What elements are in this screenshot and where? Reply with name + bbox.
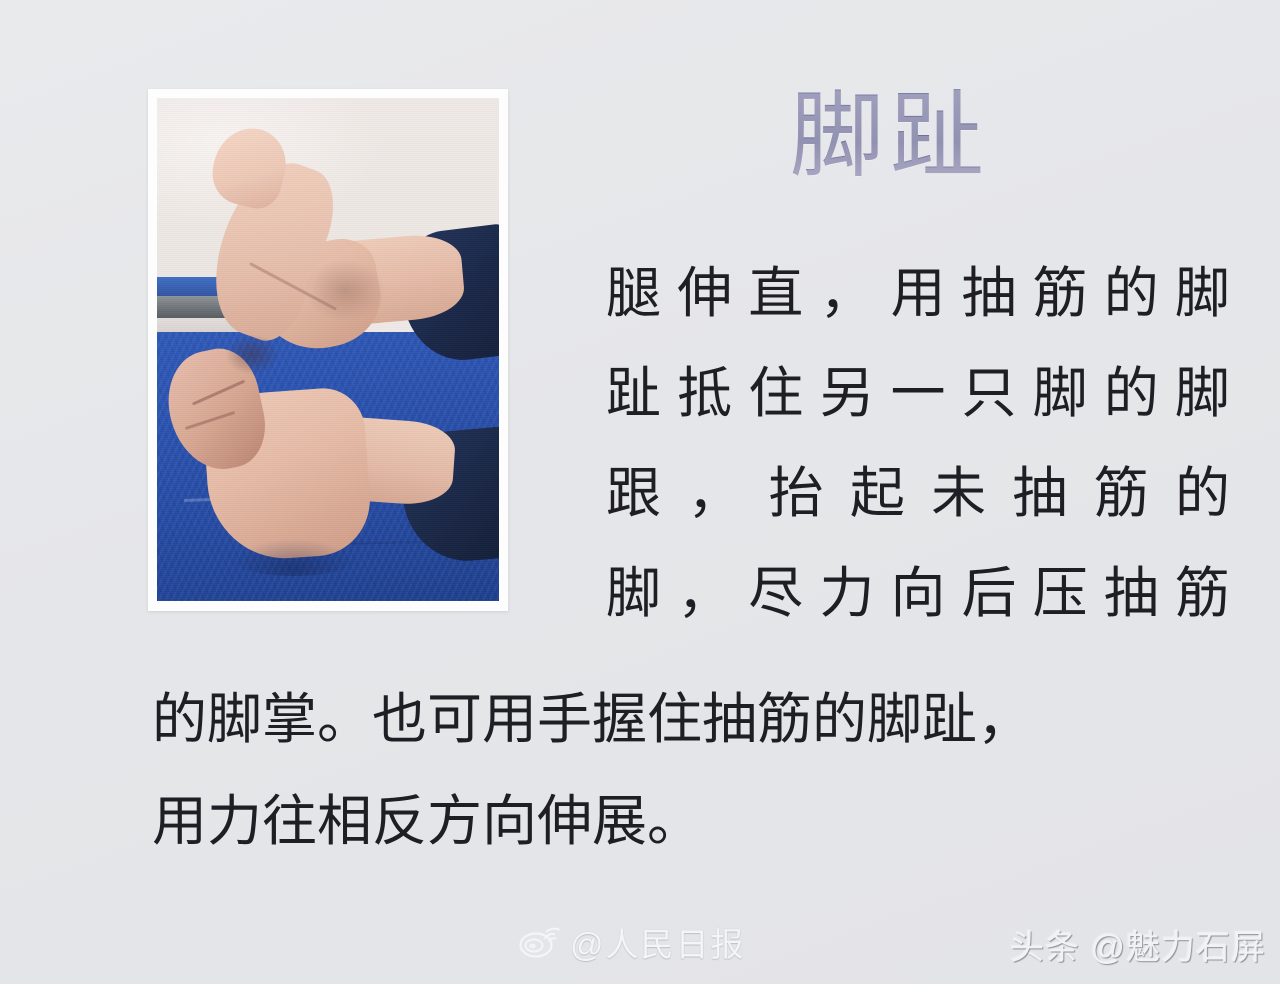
char: 用 — [890, 243, 945, 343]
page-title: 脚趾 — [790, 88, 990, 187]
toutiao-watermark: 头条 @魅力石屏 — [1010, 920, 1266, 969]
char: 的 — [1104, 343, 1159, 443]
weibo-watermark: @人民日报 — [519, 918, 746, 966]
char: 直 — [748, 243, 803, 343]
char: 抵 — [677, 343, 732, 443]
char: 尽 — [748, 543, 803, 643]
char: 只 — [962, 343, 1017, 443]
char: 的 — [1175, 443, 1230, 543]
photo-image — [157, 98, 499, 601]
char: ， — [819, 243, 874, 343]
page-root: 脚趾 腿 伸 直 ， 用 抽 筋 的 脚 趾 抵 住 另 一 只 脚 的 脚 跟… — [0, 0, 1280, 984]
text-line-1: 腿 伸 直 ， 用 抽 筋 的 脚 — [606, 243, 1230, 343]
char: 起 — [850, 443, 905, 543]
char: ， — [677, 543, 732, 643]
char: 跟 — [606, 443, 661, 543]
char: 趾 — [606, 343, 661, 443]
char: 向 — [890, 543, 945, 643]
text-line-2: 趾 抵 住 另 一 只 脚 的 脚 — [606, 343, 1230, 443]
char: 后 — [962, 543, 1017, 643]
char: 抽 — [962, 243, 1017, 343]
char: 的 — [1104, 243, 1159, 343]
char: 脚 — [1175, 243, 1230, 343]
char: 脚 — [606, 543, 661, 643]
char: 脚 — [1033, 343, 1088, 443]
text-line-4: 脚 ， 尽 力 向 后 压 抽 筋 — [606, 543, 1230, 643]
char: 力 — [819, 543, 874, 643]
char: 未 — [931, 443, 986, 543]
photo-lower-foot — [167, 350, 454, 581]
weibo-handle: @人民日报 — [570, 918, 746, 966]
char: 抽 — [1104, 543, 1159, 643]
instruction-text-column: 腿 伸 直 ， 用 抽 筋 的 脚 趾 抵 住 另 一 只 脚 的 脚 跟 ， … — [606, 243, 1230, 643]
char: 抬 — [769, 443, 824, 543]
weibo-eye-icon — [519, 925, 561, 959]
char: 住 — [748, 343, 803, 443]
char: 抽 — [1012, 443, 1067, 543]
text-line-3: 跟 ， 抬 起 未 抽 筋 的 — [606, 443, 1230, 543]
char: 腿 — [606, 243, 661, 343]
char: 筋 — [1094, 443, 1149, 543]
instruction-text-full-width: 的脚掌。也可用手握住抽筋的脚趾， 用力往相反方向伸展。 — [152, 668, 1242, 872]
photo-upper-foot-ankle-shadow — [304, 259, 386, 322]
char: ， — [687, 443, 742, 543]
photo-lower-foot-shadow — [230, 539, 356, 576]
text-line-5: 的脚掌。也可用手握住抽筋的脚趾， — [152, 668, 1242, 770]
char: 另 — [819, 343, 874, 443]
char: 筋 — [1175, 543, 1230, 643]
char: 压 — [1033, 543, 1088, 643]
photo-toe-heel-contact-point — [225, 334, 280, 374]
instruction-photo — [148, 89, 508, 611]
text-line-6: 用力往相反方向伸展。 — [152, 770, 1242, 872]
char: 伸 — [677, 243, 732, 343]
char: 脚 — [1175, 343, 1230, 443]
char: 一 — [890, 343, 945, 443]
char: 筋 — [1033, 243, 1088, 343]
